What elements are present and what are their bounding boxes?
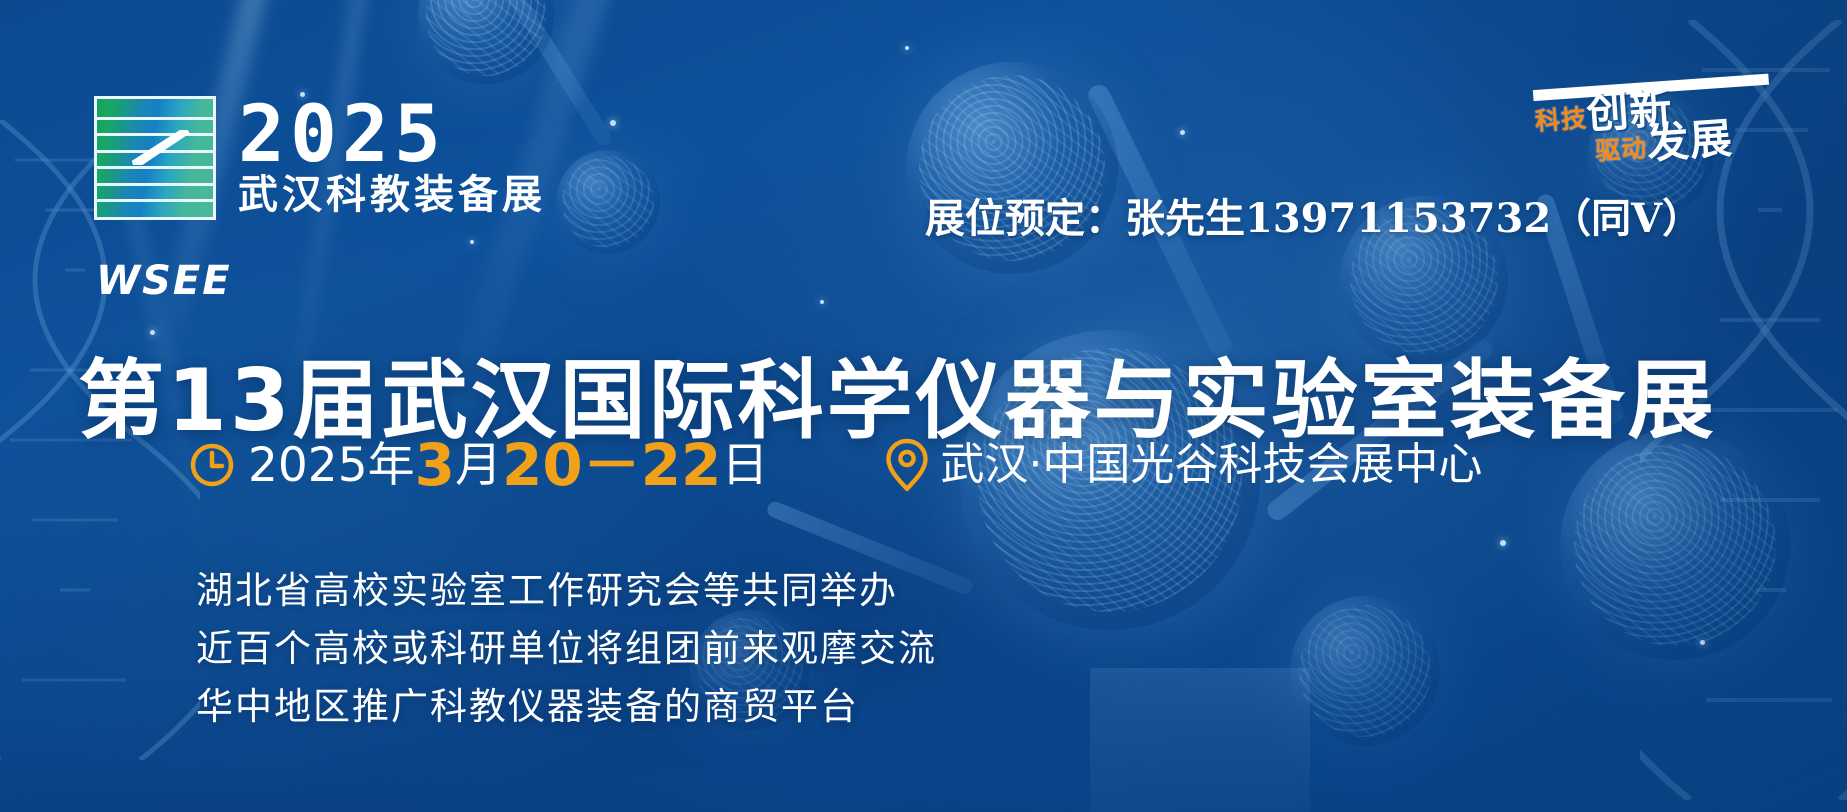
decorative-panel (1090, 668, 1310, 812)
wsee-logo-mark-icon (94, 96, 216, 220)
event-info-row: 2025年 3 月 20－22 日 武汉·中国光谷科技会展中心 (188, 436, 1482, 494)
sparkle (820, 300, 824, 304)
list-item: 华中地区推广科教仪器装备的商贸平台 (196, 686, 937, 729)
sparkle (150, 330, 155, 335)
sparkle (905, 46, 909, 50)
brand-logo: 2025 武汉科教装备展 (94, 96, 546, 220)
brand-abbrev: WSEE (96, 258, 232, 304)
sparkle (1500, 540, 1506, 546)
date-day-char: 日 (721, 442, 768, 489)
slogan-line2-small: 驱动 (1594, 128, 1648, 168)
molecule-sphere (1290, 596, 1440, 746)
brand-year: 2025 (238, 102, 546, 169)
event-date: 2025年 3 月 20－22 日 (188, 436, 768, 494)
page-title: 第13届武汉国际科学仪器与实验室装备展 (78, 358, 1717, 444)
date-day-range: 20－22 (502, 436, 721, 494)
sparkle (470, 240, 474, 244)
brand-subtitle: 武汉科教装备展 (238, 175, 546, 215)
clock-icon (188, 441, 236, 489)
highlight-list: 湖北省高校实验室工作研究会等共同举办 近百个高校或科研单位将组团前来观摩交流 华… (196, 570, 937, 744)
date-month-number: 3 (415, 436, 455, 494)
brand-logo-text: 2025 武汉科教装备展 (238, 102, 546, 215)
exhibition-poster: 2025 武汉科教装备展 WSEE 科技 创新 驱动 发展 展位预定：张先生13… (0, 0, 1847, 812)
list-item: 湖北省高校实验室工作研究会等共同举办 (196, 570, 937, 613)
date-month-char: 月 (455, 442, 502, 489)
molecule-sphere (1560, 430, 1790, 660)
slogan-line2-large: 发展 (1646, 118, 1735, 164)
slogan-line1-small: 科技 (1534, 98, 1588, 138)
list-item: 近百个高校或科研单位将组团前来观摩交流 (196, 628, 937, 671)
sparkle (1700, 640, 1705, 645)
sparkle (1180, 130, 1185, 135)
booth-booking-contact: 展位预定：张先生13971153732（同V） (925, 186, 1702, 244)
date-year: 2025年 (248, 442, 415, 489)
sparkle (610, 120, 616, 126)
molecule-sphere (418, 0, 554, 84)
molecule-sphere (556, 150, 660, 254)
venue-name: 武汉·中国光谷科技会展中心 (940, 443, 1482, 487)
slogan-line-2: 驱动 发展 (1594, 118, 1734, 167)
location-pin-icon (886, 438, 928, 492)
event-venue: 武汉·中国光谷科技会展中心 (886, 438, 1482, 492)
slogan-badge: 科技 创新 驱动 发展 (1526, 64, 1831, 169)
